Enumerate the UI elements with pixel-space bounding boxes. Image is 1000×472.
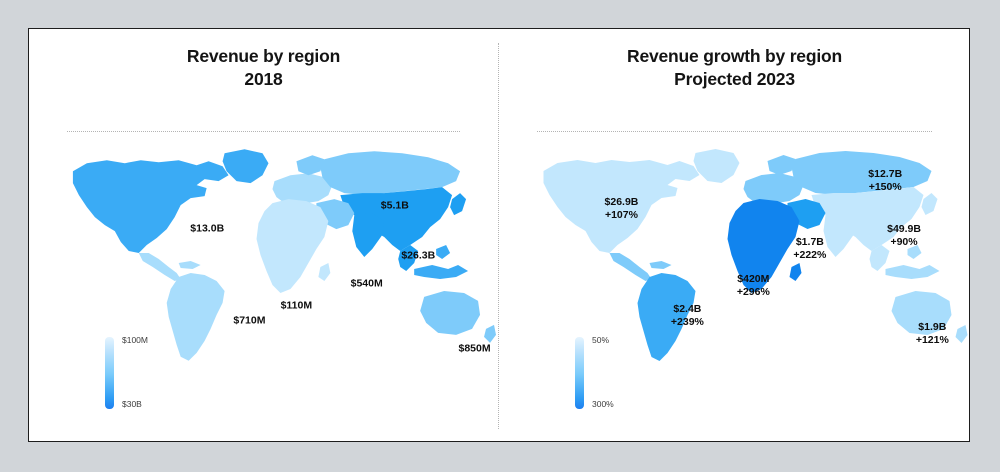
right-panel-title: Revenue growth by region Projected 2023 [499, 45, 970, 91]
left-panel-title: Revenue by region 2018 [29, 45, 498, 91]
right-legend-min-label: 50% [592, 335, 609, 345]
right-legend-colorbar [575, 337, 584, 409]
panel-revenue-growth-2023: Revenue growth by region Projected 2023 [499, 29, 970, 441]
region-indonesia[interactable] [414, 265, 468, 279]
region-madagascar[interactable] [790, 263, 802, 281]
left-legend: $100M $30B [105, 337, 197, 419]
right-panel-title-line1: Revenue growth by region [627, 46, 842, 66]
region-japan[interactable] [922, 193, 938, 215]
left-map-regions [73, 149, 496, 361]
region-greenland[interactable] [694, 149, 740, 183]
region-indonesia[interactable] [886, 265, 940, 279]
left-legend-max-label: $100M [122, 335, 148, 345]
region-central-america[interactable] [610, 253, 652, 281]
region-caribbean[interactable] [650, 261, 672, 269]
left-panel-title-line1: Revenue by region [187, 46, 340, 66]
region-new-zealand[interactable] [956, 325, 968, 343]
region-oceania[interactable] [420, 291, 480, 335]
region-scandinavia[interactable] [768, 155, 796, 175]
right-panel-title-line2: Projected 2023 [499, 68, 970, 91]
region-japan[interactable] [450, 193, 466, 215]
region-india[interactable] [352, 213, 384, 257]
region-oceania[interactable] [892, 291, 952, 335]
dashboard-card: Revenue by region 2018 [28, 28, 970, 442]
left-panel-divider [67, 131, 461, 132]
right-map-regions [544, 149, 968, 361]
right-legend-max-label: 300% [592, 399, 614, 409]
region-india[interactable] [824, 213, 856, 257]
region-africa[interactable] [728, 199, 800, 293]
left-legend-colorbar [105, 337, 114, 409]
right-legend: 50% 300% [575, 337, 667, 419]
region-africa[interactable] [257, 199, 329, 293]
region-madagascar[interactable] [318, 263, 330, 281]
region-philippines[interactable] [436, 245, 450, 259]
left-legend-min-label: $30B [122, 399, 142, 409]
left-panel-title-line2: 2018 [29, 68, 498, 91]
region-new-zealand[interactable] [484, 325, 496, 343]
region-scandinavia[interactable] [296, 155, 324, 175]
region-caribbean[interactable] [179, 261, 201, 269]
region-north-america[interactable] [73, 160, 229, 253]
right-panel-divider [537, 131, 933, 132]
region-greenland[interactable] [223, 149, 269, 183]
region-philippines[interactable] [908, 245, 922, 259]
panel-revenue-2018: Revenue by region 2018 [29, 29, 498, 441]
region-north-america[interactable] [544, 160, 700, 253]
region-central-america[interactable] [139, 253, 181, 281]
right-world-map: $26.9B +107% $2.4B +239% $12.7B +150% $4… [499, 141, 970, 391]
left-world-map: $13.0B $710M $5.1B $26.3B $540M $110M $8… [29, 141, 498, 391]
